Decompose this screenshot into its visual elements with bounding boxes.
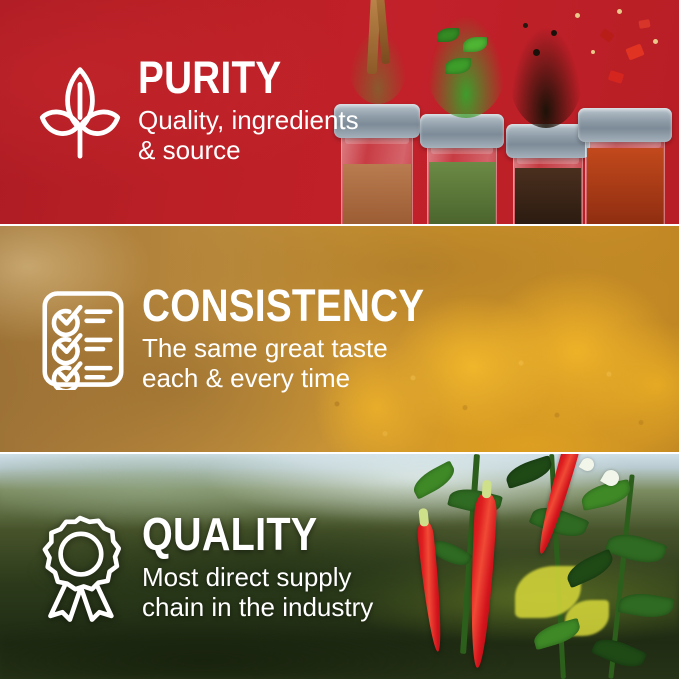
feature-banner: PURITY Quality, ingredients & source xyxy=(0,0,679,679)
panel-quality-title: QUALITY xyxy=(142,511,341,557)
panel-quality-subtitle: Most direct supply chain in the industry xyxy=(142,563,373,622)
panel-purity-title: PURITY xyxy=(138,55,328,100)
panel-purity-subtitle: Quality, ingredients & source xyxy=(138,106,359,165)
panel-quality: QUALITY Most direct supply chain in the … xyxy=(0,454,679,679)
checklist-icon xyxy=(38,287,128,391)
panel-consistency-title: CONSISTENCY xyxy=(142,283,424,328)
panel-consistency: CONSISTENCY The same great taste each & … xyxy=(0,226,679,452)
plant-sprout-icon xyxy=(34,57,126,167)
panel-consistency-subtitle: The same great taste each & every time xyxy=(142,334,470,393)
panel-purity: PURITY Quality, ingredients & source xyxy=(0,0,679,224)
award-ribbon-icon xyxy=(30,511,130,623)
